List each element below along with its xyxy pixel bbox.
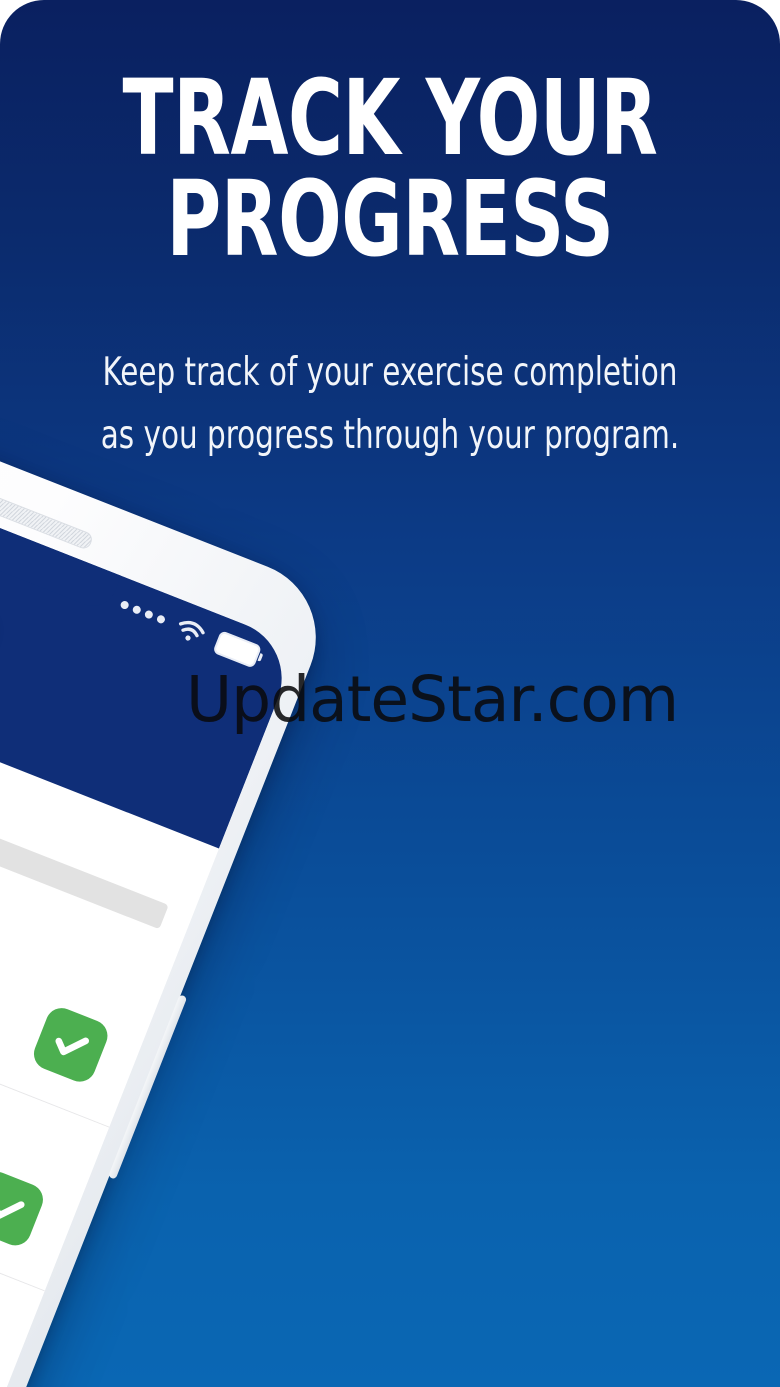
screen-notch [0,480,121,613]
wifi-icon [173,615,209,646]
background-panel: TRACK YOUR PROGRESS Keep track of your e… [0,0,780,1387]
promo-screenshot: TRACK YOUR PROGRESS Keep track of your e… [0,0,780,1387]
signal-strength-icon [119,600,166,625]
phone-body: Instructions + Complete! Hamstring Hike [0,345,338,1387]
page-title: TRACK YOUR PROGRESS [78,68,702,270]
battery-icon [212,630,262,668]
phone-mockup: Instructions + Complete! Hamstring Hike [0,345,338,1387]
instructions-toggle-button[interactable]: Instructions + [0,494,2,701]
phone-screen: Instructions + Complete! Hamstring Hike [0,410,299,1387]
checkmark-icon [0,1182,32,1234]
status-bar [117,592,263,668]
checkmark-icon [45,1019,97,1071]
page-subtitle: Keep track of your exercise completion a… [62,341,717,467]
